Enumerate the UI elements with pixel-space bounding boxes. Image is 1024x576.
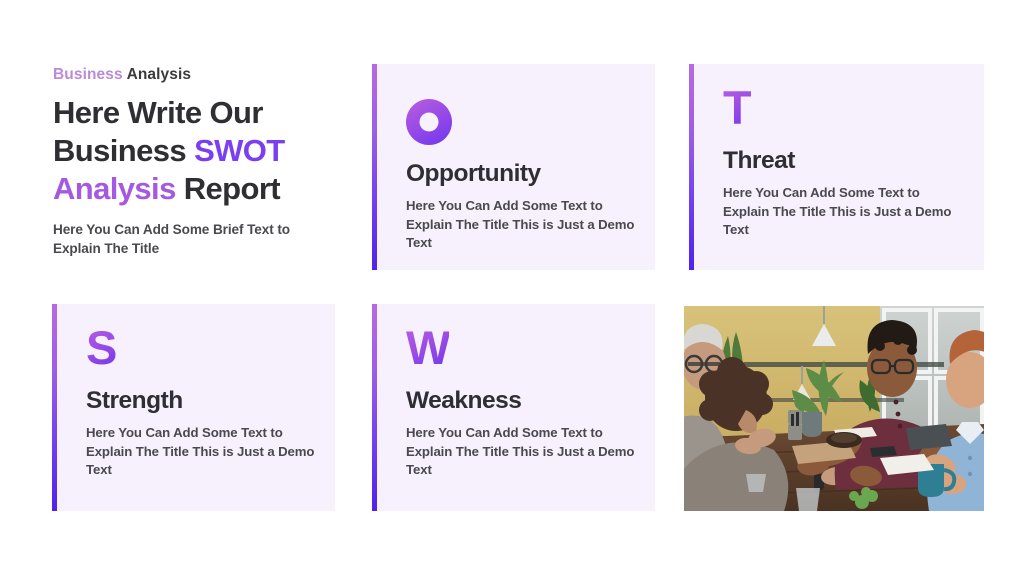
headline-line3-plain: Report [176,171,280,206]
letter-s-icon: S [86,326,116,372]
card-text: Here You Can Add Some Text to Explain Th… [86,424,315,480]
headline-line2-plain: Business [53,133,194,168]
header-subtitle: Here You Can Add Some Brief Text to Expl… [53,221,333,259]
headline-analysis: Analysis [53,171,176,206]
letter-t-icon: T [723,86,751,132]
card-body: O Opportunity Here You Can Add Some Text… [377,64,655,270]
card-body: W Weakness Here You Can Add Some Text to… [377,304,655,511]
card-title: Weakness [406,388,635,415]
swot-slide: Business Analysis Here Write OurBusiness… [0,0,1024,576]
eyebrow-highlight: Business [53,66,123,83]
letter-w-icon: W [406,326,449,372]
headline-swot: SWOT [194,133,285,168]
card-body: T Threat Here You Can Add Some Text to E… [694,64,984,270]
header-block: Business Analysis Here Write OurBusiness… [53,66,353,258]
card-text: Here You Can Add Some Text to Explain Th… [406,424,635,480]
card-title: Strength [86,388,315,415]
headline-line1: Here Write Our [53,95,263,130]
card-title: Opportunity [406,161,635,188]
page-title: Here Write OurBusiness SWOTAnalysis Repo… [53,94,353,209]
swot-card-threat[interactable]: T Threat Here You Can Add Some Text to E… [689,64,984,270]
card-text: Here You Can Add Some Text to Explain Th… [723,184,964,240]
card-text: Here You Can Add Some Text to Explain Th… [406,197,635,253]
card-title: Threat [723,148,964,175]
card-body: S Strength Here You Can Add Some Text to… [57,304,335,511]
eyebrow: Business Analysis [53,66,353,85]
eyebrow-rest: Analysis [127,66,192,83]
swot-card-strength[interactable]: S Strength Here You Can Add Some Text to… [52,304,335,511]
swot-card-opportunity[interactable]: O Opportunity Here You Can Add Some Text… [372,64,655,270]
swot-card-weakness[interactable]: W Weakness Here You Can Add Some Text to… [372,304,655,511]
meeting-photo [684,306,984,511]
letter-o-icon: O [406,99,452,145]
